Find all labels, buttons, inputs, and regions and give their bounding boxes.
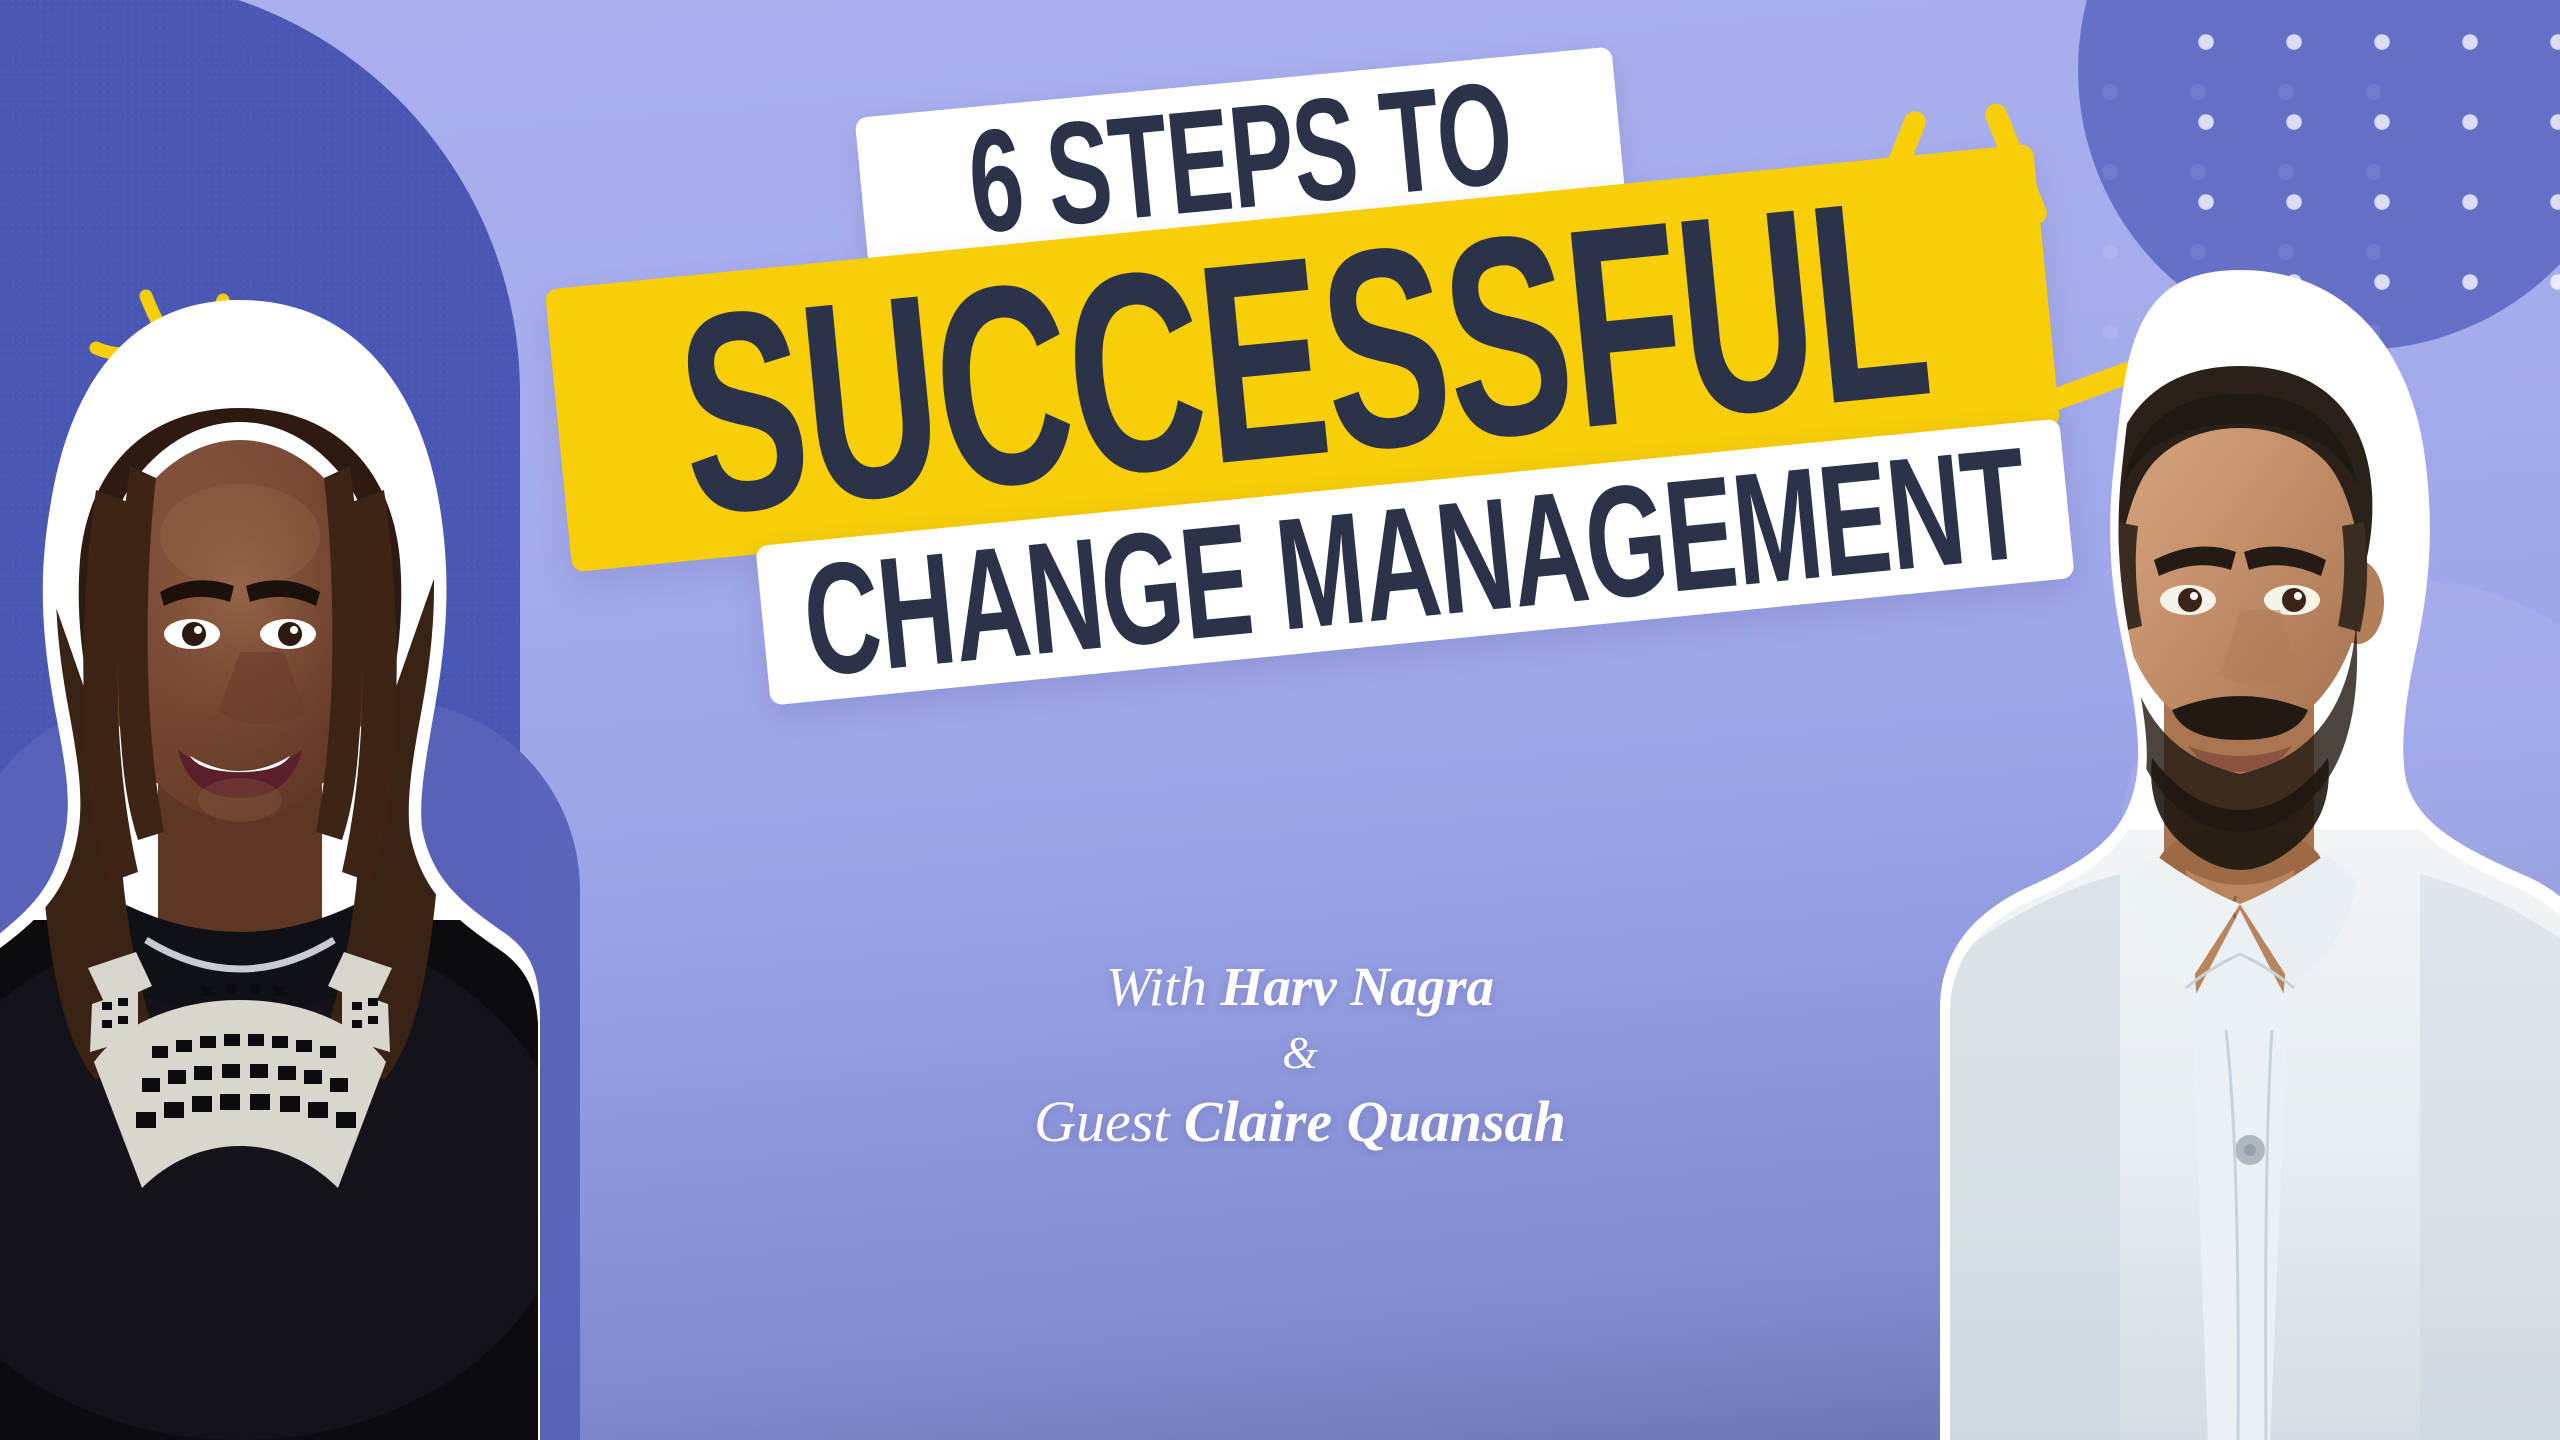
sparkle-icon xyxy=(1865,100,2125,280)
host-name: Harv Nagra xyxy=(1221,956,1494,1017)
host-line: With Harv Nagra xyxy=(960,955,1640,1018)
title-stack: 6 STEPS TO SUCCESSFUL CHANGE MANAGEMENT xyxy=(560,82,2080,722)
avatar-claire-quansah xyxy=(0,300,540,1440)
credits-block: With Harv Nagra & Guest Claire Quansah xyxy=(960,955,1640,1156)
guest-name: Claire Quansah xyxy=(1184,1089,1566,1154)
credits-separator: & xyxy=(960,1018,1640,1087)
guest-line: Guest Claire Quansah xyxy=(960,1089,1640,1156)
podcast-thumbnail: 6 STEPS TO SUCCESSFUL CHANGE MANAGEMENT … xyxy=(0,0,2560,1440)
host-prefix: With xyxy=(1106,956,1221,1017)
avatar-harv-nagra xyxy=(1940,270,2560,1440)
guest-prefix: Guest xyxy=(1034,1089,1184,1154)
